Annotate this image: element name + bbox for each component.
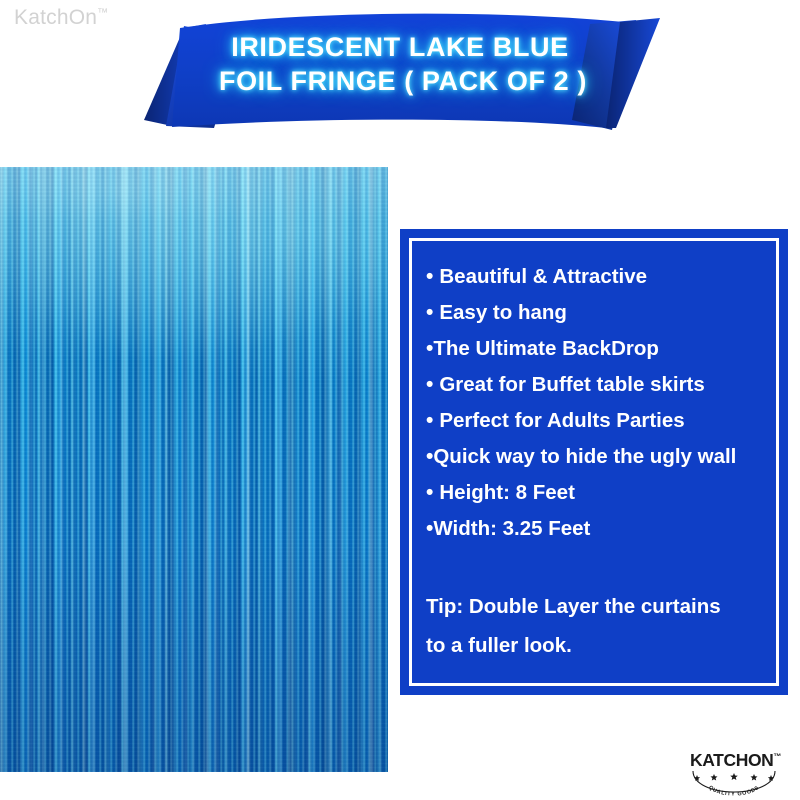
feature-label: Beautiful & Attractive <box>439 259 647 295</box>
feature-label: Perfect for Adults Parties <box>439 403 684 439</box>
bullet-icon: • <box>426 295 433 331</box>
feature-item: • Great for Buffet table skirts <box>426 367 762 403</box>
feature-label: The Ultimate BackDrop <box>433 331 659 367</box>
brand-logo-name: KATCHON™ <box>690 748 790 769</box>
features-panel-inner-border: • Beautiful & Attractive • Easy to hang … <box>409 238 779 686</box>
seal-tagline-text: QUALITY GOODS <box>707 785 761 796</box>
feature-label: Great for Buffet table skirts <box>439 367 704 403</box>
bullet-icon: • <box>426 259 433 295</box>
seal-stars <box>694 773 774 781</box>
katchon-brand-logo: KATCHON™ QUALITY GOODS <box>690 748 790 794</box>
brand-logo-seal: QUALITY GOODS <box>690 770 786 796</box>
tip-line-2: to a fuller look. <box>426 626 762 665</box>
feature-item: • Perfect for Adults Parties <box>426 403 762 439</box>
feature-item: • The Ultimate BackDrop <box>426 331 762 367</box>
feature-item-height: • Height: 8 Feet <box>426 475 762 511</box>
tip-text: Tip: Double Layer the curtains to a full… <box>426 587 762 665</box>
fringe-vignette-overlay <box>0 167 388 772</box>
seal-tagline: QUALITY GOODS <box>707 785 761 796</box>
watermark-trademark-symbol: ™ <box>97 7 108 19</box>
feature-item: • Easy to hang <box>426 295 762 331</box>
ribbon-shape <box>120 8 680 136</box>
feature-item-width: • Width: 3.25 Feet <box>426 511 762 547</box>
feature-label: Easy to hang <box>439 295 567 331</box>
bullet-icon: • <box>426 439 433 475</box>
bullet-icon: • <box>426 511 433 547</box>
brand-logo-name-text: KATCHON <box>690 750 773 770</box>
bullet-icon: • <box>426 331 433 367</box>
watermark-brand-text: KatchOn <box>14 6 97 29</box>
katchon-watermark: KatchOn™ <box>14 6 108 30</box>
feature-label: Height: 8 Feet <box>439 475 575 511</box>
brand-trademark-symbol: ™ <box>773 752 781 761</box>
title-ribbon-banner: IRIDESCENT LAKE BLUE FOIL FRINGE ( PACK … <box>120 8 680 136</box>
bullet-icon: • <box>426 403 433 439</box>
ribbon-body <box>172 14 624 128</box>
feature-label: Width: 3.25 Feet <box>433 511 590 547</box>
feature-item: • Beautiful & Attractive <box>426 259 762 295</box>
features-panel: • Beautiful & Attractive • Easy to hang … <box>400 229 788 695</box>
foil-fringe-product-photo <box>0 167 388 772</box>
bullet-icon: • <box>426 367 433 403</box>
bullet-icon: • <box>426 475 433 511</box>
feature-label: Quick way to hide the ugly wall <box>433 439 736 475</box>
feature-item: • Quick way to hide the ugly wall <box>426 439 762 475</box>
product-infographic: KatchOn™ <box>0 0 800 800</box>
tip-line-1: Tip: Double Layer the curtains <box>426 587 762 626</box>
